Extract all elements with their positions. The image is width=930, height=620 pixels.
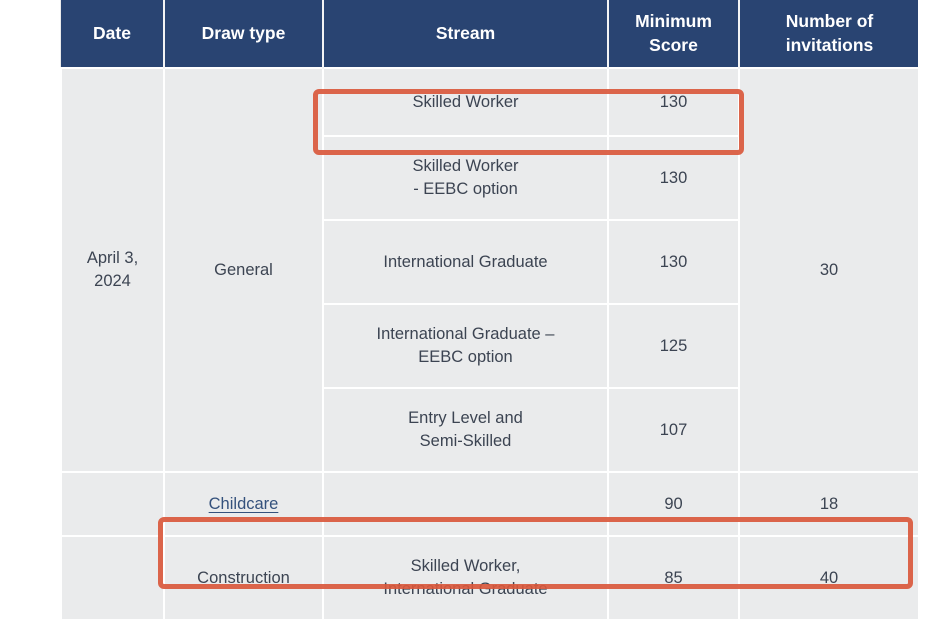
cell-date-line2: 2024 (94, 272, 131, 290)
draw-results-table-container: Date Draw type Stream Minimum Score Numb… (60, 0, 918, 620)
column-header-stream-label: Stream (436, 23, 495, 43)
table-row[interactable]: Construction Skilled Worker, Internation… (61, 536, 918, 620)
cell-minimum-score-value: 90 (664, 495, 682, 513)
cell-stream-international-graduate: International Graduate (323, 220, 608, 304)
cell-stream-label-line1: International Graduate – (377, 325, 555, 343)
cell-stream-label-line1: Skilled Worker, (411, 557, 521, 575)
table-header-row: Date Draw type Stream Minimum Score Numb… (61, 0, 918, 68)
cell-minimum-score: 130 (608, 136, 739, 220)
column-header-date[interactable]: Date (61, 0, 164, 68)
childcare-link[interactable]: Childcare (209, 495, 279, 513)
column-header-minimum-score-label-line2: Score (649, 35, 698, 55)
column-header-draw-type-label: Draw type (202, 23, 286, 43)
table-header: Date Draw type Stream Minimum Score Numb… (61, 0, 918, 68)
cell-stream-label-line2: - EEBC option (413, 180, 518, 198)
cell-minimum-score-value: 85 (664, 569, 682, 587)
cell-invitations: 18 (739, 472, 918, 536)
cell-draw-type-childcare[interactable]: Childcare (164, 472, 323, 536)
cell-minimum-score: 85 (608, 536, 739, 620)
page-root: Date Draw type Stream Minimum Score Numb… (0, 0, 930, 620)
cell-draw-type-construction: Construction (164, 536, 323, 620)
cell-draw-type-label: General (214, 261, 273, 279)
cell-stream-international-graduate-eebc: International Graduate – EEBC option (323, 304, 608, 388)
cell-invitations: 30 (739, 68, 918, 472)
column-header-date-label: Date (93, 23, 131, 43)
cell-stream-label-line2: Semi-Skilled (420, 432, 512, 450)
cell-minimum-score-value: 130 (660, 169, 688, 187)
cell-stream-skilled-worker: Skilled Worker (323, 68, 608, 136)
table-row[interactable]: Childcare 90 18 (61, 472, 918, 536)
cell-date: April 3, 2024 (61, 68, 164, 472)
column-header-invitations-label-line1: Number of (786, 11, 874, 31)
cell-minimum-score: 90 (608, 472, 739, 536)
column-header-minimum-score[interactable]: Minimum Score (608, 0, 739, 68)
column-header-minimum-score-label-line1: Minimum (635, 11, 712, 31)
column-header-number-of-invitations[interactable]: Number of invitations (739, 0, 918, 68)
cell-invitations-value: 40 (820, 569, 838, 587)
cell-stream-skilled-worker-eebc: Skilled Worker - EEBC option (323, 136, 608, 220)
cell-date-line1: April 3, (87, 249, 138, 267)
cell-invitations: 40 (739, 536, 918, 620)
cell-stream-label-line2: EEBC option (418, 348, 512, 366)
column-header-draw-type[interactable]: Draw type (164, 0, 323, 68)
cell-minimum-score-value: 130 (660, 253, 688, 271)
cell-minimum-score: 130 (608, 220, 739, 304)
cell-minimum-score: 125 (608, 304, 739, 388)
draw-results-table: Date Draw type Stream Minimum Score Numb… (60, 0, 918, 620)
column-header-invitations-label-line2: invitations (786, 35, 874, 55)
cell-stream-label-line2: International Graduate (383, 580, 547, 598)
cell-minimum-score-value: 130 (660, 93, 688, 111)
cell-date-empty (61, 536, 164, 620)
cell-stream-entry-level-semi-skilled: Entry Level and Semi-Skilled (323, 388, 608, 472)
cell-minimum-score: 107 (608, 388, 739, 472)
cell-draw-type-general: General (164, 68, 323, 472)
cell-invitations-value: 30 (820, 261, 838, 279)
cell-stream-label-line1: Entry Level and (408, 409, 523, 427)
cell-stream-label: Skilled Worker (412, 93, 518, 111)
table-body: April 3, 2024 General Skilled Worker 130… (61, 68, 918, 620)
cell-stream-construction: Skilled Worker, International Graduate (323, 536, 608, 620)
cell-minimum-score: 130 (608, 68, 739, 136)
cell-stream-empty (323, 472, 608, 536)
cell-minimum-score-value: 125 (660, 337, 688, 355)
table-row[interactable]: April 3, 2024 General Skilled Worker 130… (61, 68, 918, 136)
cell-invitations-value: 18 (820, 495, 838, 513)
column-header-stream[interactable]: Stream (323, 0, 608, 68)
cell-stream-label-line1: Skilled Worker (412, 157, 518, 175)
cell-stream-label: International Graduate (383, 253, 547, 271)
cell-draw-type-label: Construction (197, 569, 290, 587)
cell-minimum-score-value: 107 (660, 421, 688, 439)
cell-date-empty (61, 472, 164, 536)
